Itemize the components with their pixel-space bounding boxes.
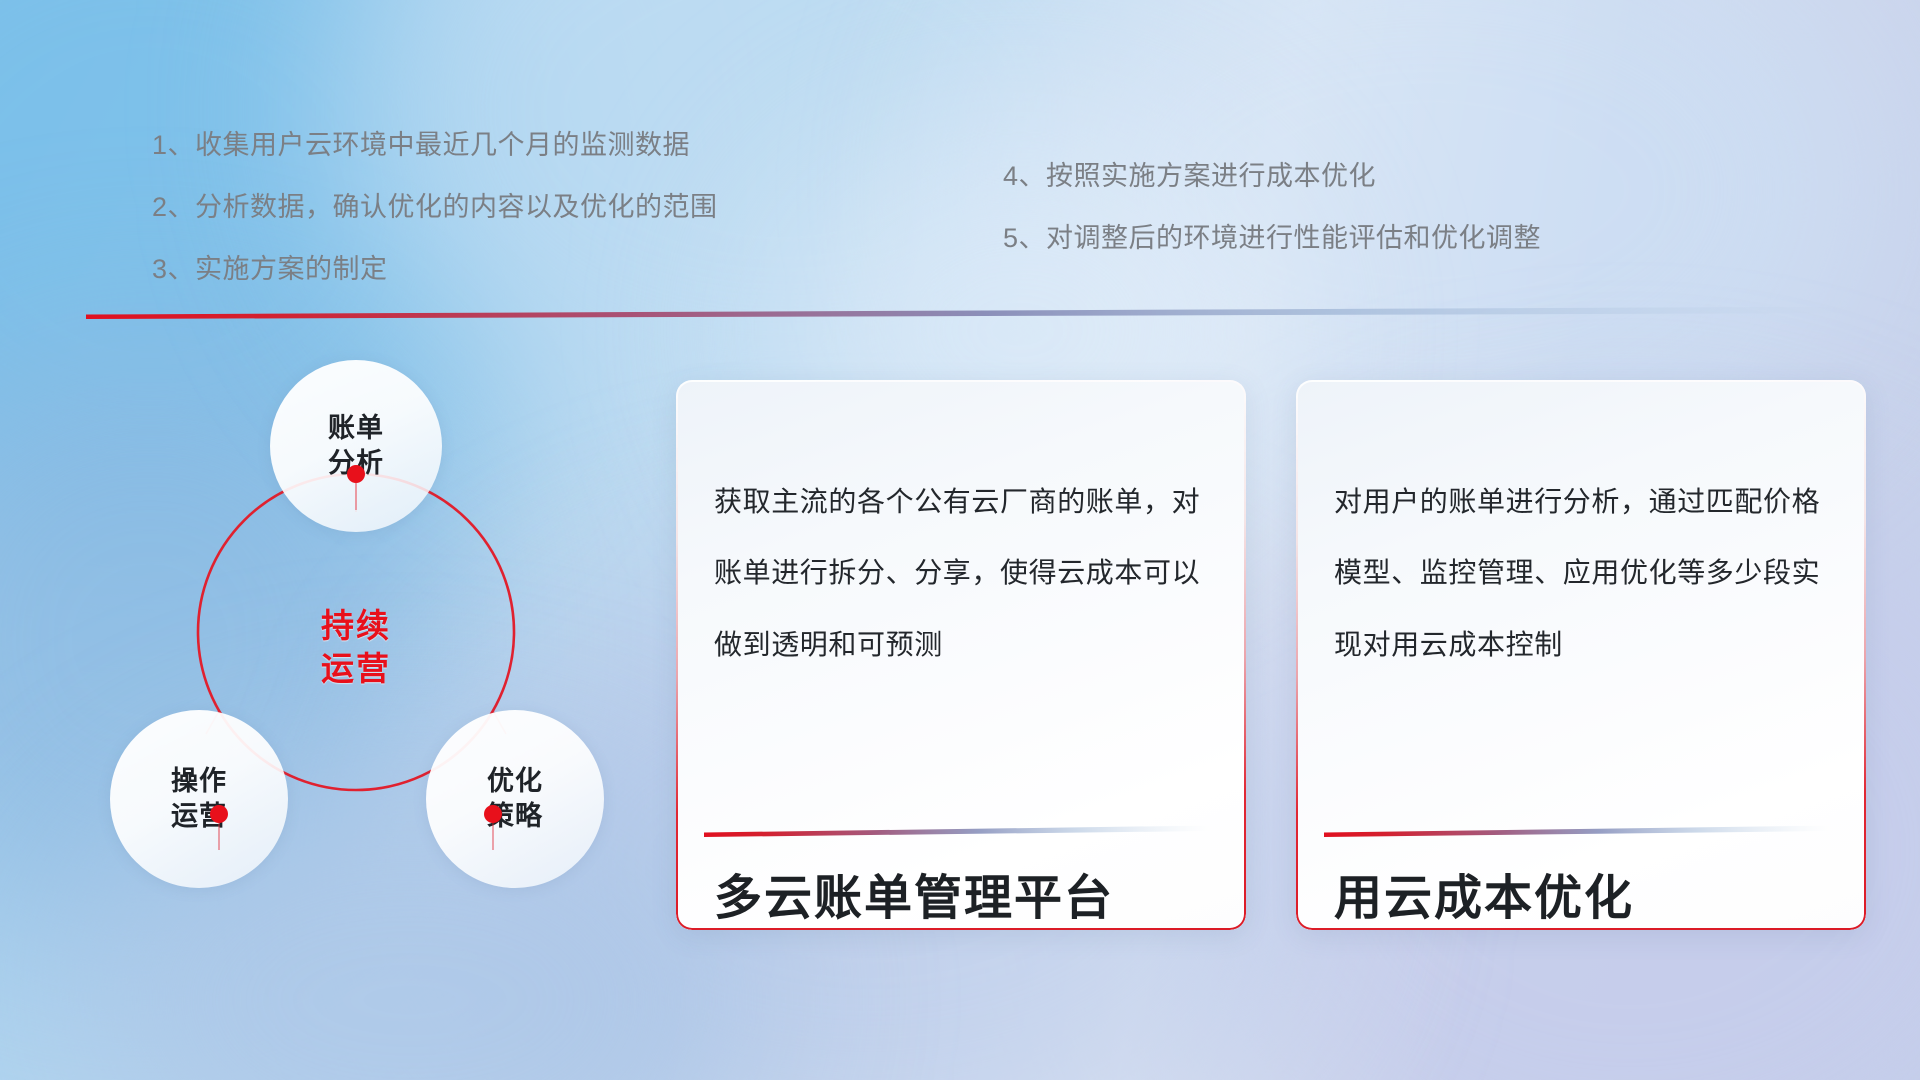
card-divider [704,820,1212,840]
venn-node-optimization-strategy[interactable]: 优化 策略 [426,710,604,888]
venn-node-label-line2: 运营 [171,799,227,834]
step-item-4: 4、按照实施方案进行成本优化 [1003,154,1376,193]
step-item-2: 2、分析数据，确认优化的内容以及优化的范围 [152,185,718,224]
venn-diagram: 账单 分析 操作 运营 优化 策略 持续 运营 [96,352,656,932]
venn-node-label-line2: 分析 [328,446,384,481]
card-divider [1324,820,1832,840]
card-body-text: 对用户的账单进行分析，通过匹配价格模型、监控管理、应用优化等多少段实现对用云成本… [1334,466,1832,680]
feature-card-cloud-cost-optimization[interactable]: 对用户的账单进行分析，通过匹配价格模型、监控管理、应用优化等多少段实现对用云成本… [1296,380,1866,930]
section-divider [86,300,1884,322]
venn-node-operations[interactable]: 操作 运营 [110,710,288,888]
steps-list: 1、收集用户云环境中最近几个月的监测数据 2、分析数据，确认优化的内容以及优化的… [0,0,1920,300]
venn-node-label-line1: 操作 [171,764,227,799]
venn-node-label-line2: 策略 [487,799,543,834]
venn-center-label: 持续 运营 [274,588,438,708]
venn-node-bill-analysis[interactable]: 账单 分析 [270,360,442,532]
card-title: 多云账单管理平台 [714,858,1218,928]
venn-center-line2: 运营 [321,648,391,691]
venn-node-label-line1: 账单 [328,411,384,446]
venn-node-label-line1: 优化 [487,764,543,799]
card-title: 用云成本优化 [1334,858,1838,928]
step-item-5: 5、对调整后的环境进行性能评估和优化调整 [1003,216,1541,255]
card-body-text: 获取主流的各个公有云厂商的账单，对账单进行拆分、分享，使得云成本可以做到透明和可… [714,466,1212,680]
step-item-1: 1、收集用户云环境中最近几个月的监测数据 [152,123,690,162]
venn-center-line1: 持续 [321,605,391,648]
feature-card-multi-cloud-billing-platform[interactable]: 获取主流的各个公有云厂商的账单，对账单进行拆分、分享，使得云成本可以做到透明和可… [676,380,1246,930]
step-item-3: 3、实施方案的制定 [152,247,388,286]
